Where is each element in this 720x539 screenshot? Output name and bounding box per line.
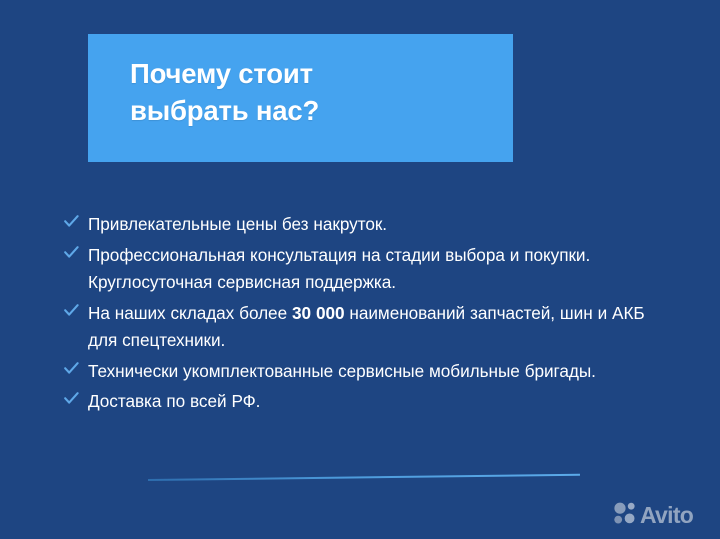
list-item-label: Технически укомплектованные сервисные мо…	[88, 358, 674, 386]
list-item-label: Привлекательные цены без накруток.	[88, 211, 674, 239]
list-item: Технически укомплектованные сервисные мо…	[64, 358, 674, 387]
check-icon	[64, 362, 88, 375]
list-item-label: Профессиональная консультация на стадии …	[88, 242, 674, 297]
horizontal-divider	[148, 474, 580, 481]
check-icon	[64, 392, 88, 405]
slide-canvas: Почему стоит выбрать нас? Привлекательны…	[0, 0, 720, 539]
check-icon	[64, 304, 88, 317]
list-item: Профессиональная консультация на стадии …	[64, 242, 674, 298]
list-item: Доставка по всей РФ.	[64, 388, 674, 417]
benefits-list: Привлекательные цены без накруток. Профе…	[64, 211, 674, 419]
avito-logo-icon	[612, 500, 638, 531]
heading-panel: Почему стоит выбрать нас?	[88, 34, 513, 162]
check-icon	[64, 215, 88, 228]
list-item-label: Доставка по всей РФ.	[88, 388, 674, 416]
list-item: На наших складах более 30 000 наименован…	[64, 300, 674, 356]
avito-watermark: Avito	[612, 500, 693, 531]
check-icon	[64, 246, 88, 259]
list-item-label: На наших складах более 30 000 наименован…	[88, 300, 674, 355]
list-item: Привлекательные цены без накруток.	[64, 211, 674, 240]
avito-wordmark: Avito	[640, 504, 693, 527]
page-title: Почему стоит выбрать нас?	[130, 56, 500, 129]
